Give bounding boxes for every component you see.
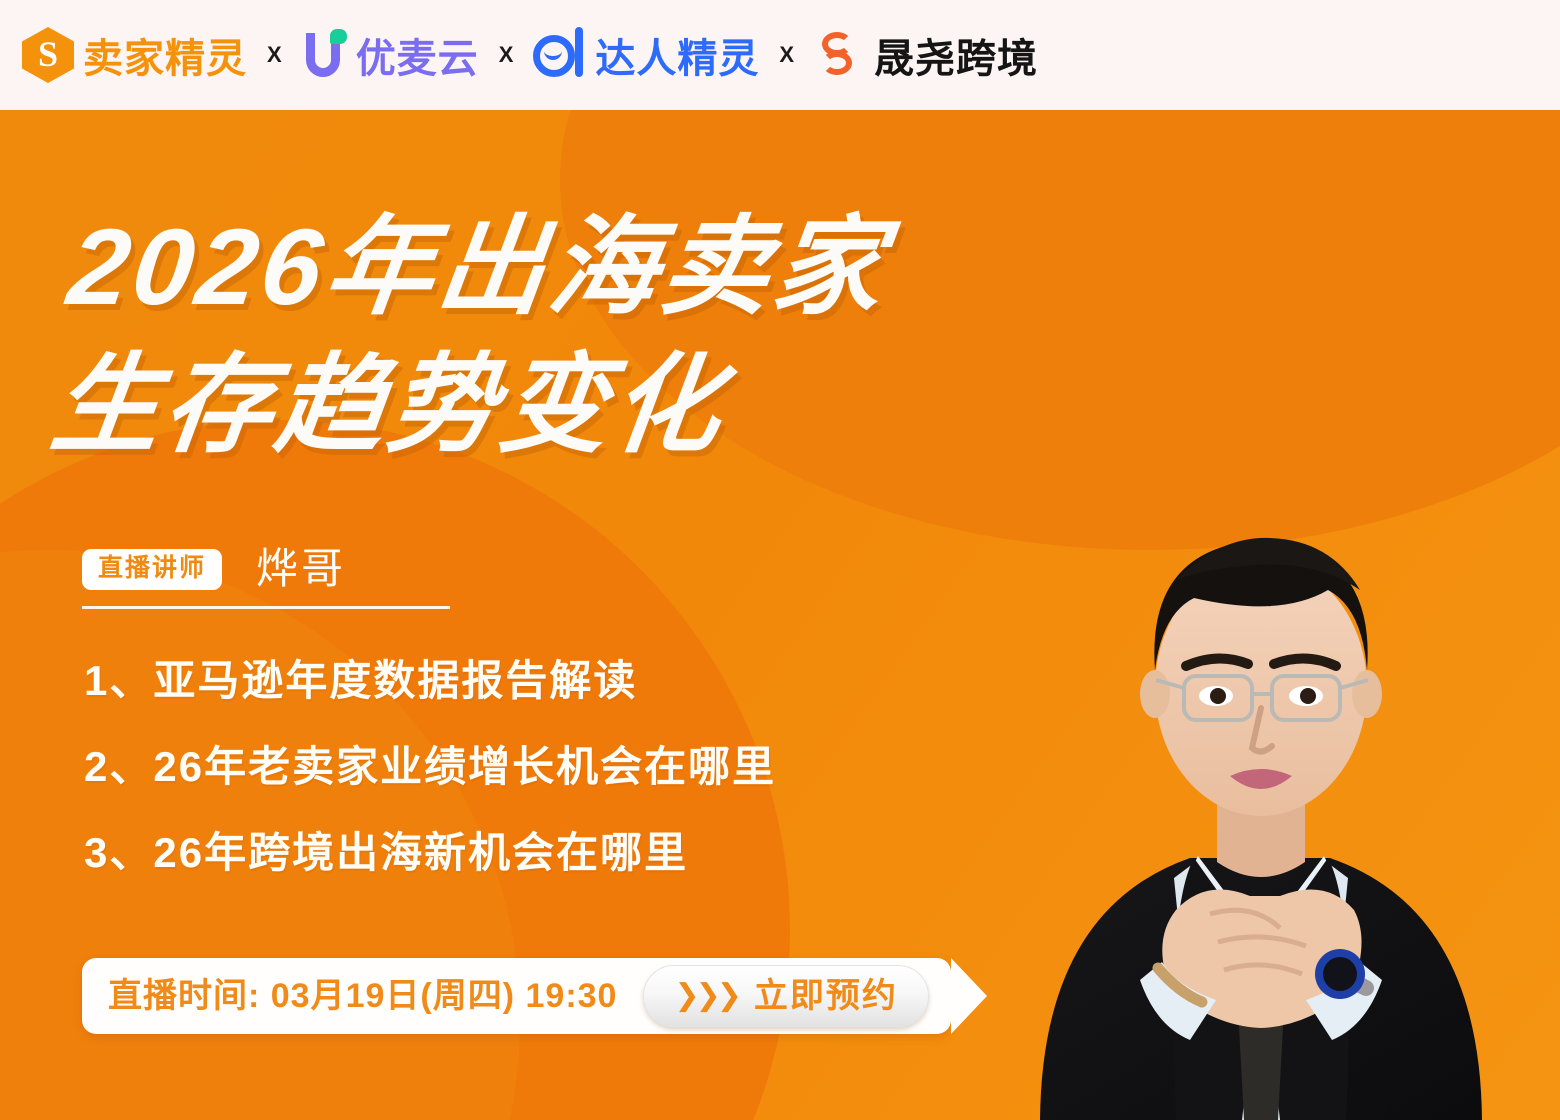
agenda-list: 1、亚马逊年度数据报告解读 2、26年老卖家业绩增长机会在哪里 3、26年跨境出… — [84, 658, 776, 917]
hero-background: 2026年出海卖家 生存趋势变化 直播讲师 烨哥 1、亚马逊年度数据报告解读 2… — [0, 110, 1560, 1120]
host-row: 直播讲师 烨哥 — [82, 548, 346, 590]
s-loop-icon — [814, 27, 864, 83]
list-item: 1、亚马逊年度数据报告解读 — [84, 658, 776, 704]
logo-shengyao[interactable]: 晟尧跨境 — [814, 26, 1038, 84]
live-promo-poster: S 卖家精灵 X 优麦云 X 达人精灵 X 晟尧跨境 — [0, 0, 1560, 1120]
page-title-line2: 生存趋势变化 — [44, 336, 877, 474]
u-drop-icon — [302, 27, 346, 83]
partner-logo-bar: S 卖家精灵 X 优麦云 X 达人精灵 X 晟尧跨境 — [0, 0, 1560, 110]
cta-bar: 直播时间: 03月19日(周四) 19:30 ❯❯❯ 立即预约 — [82, 958, 951, 1034]
logo-separator-1: X — [267, 44, 282, 66]
logo-shengyao-label: 晟尧跨境 — [874, 26, 1038, 84]
d-circle-icon — [533, 27, 585, 83]
host-name: 烨哥 — [256, 548, 346, 590]
page-title: 2026年出海卖家 生存趋势变化 — [44, 198, 894, 474]
host-badge: 直播讲师 — [82, 549, 222, 590]
list-item: 3、26年跨境出海新机会在哪里 — [84, 830, 776, 876]
chevron-right-icon: ❯❯❯ — [674, 981, 737, 1011]
hexagon-s-icon: S — [22, 27, 74, 83]
logo-sellersprite-label: 卖家精灵 — [83, 26, 247, 84]
live-time-label: 直播时间: 03月19日(周四) 19:30 — [108, 979, 617, 1013]
logo-separator-2: X — [499, 44, 514, 66]
logo-darenjingling[interactable]: 达人精灵 — [533, 26, 759, 84]
logo-darenjingling-label: 达人精灵 — [595, 26, 759, 84]
reserve-button-label: 立即预约 — [754, 979, 898, 1013]
host-divider — [82, 606, 450, 609]
logo-sellersprite[interactable]: S 卖家精灵 — [22, 26, 247, 84]
list-item: 2、26年老卖家业绩增长机会在哪里 — [84, 744, 776, 790]
page-title-line1: 2026年出海卖家 — [62, 206, 893, 327]
logo-separator-3: X — [779, 44, 794, 66]
hero-content: 2026年出海卖家 生存趋势变化 直播讲师 烨哥 1、亚马逊年度数据报告解读 2… — [0, 110, 1560, 1120]
logo-umaiyun-label: 优麦云 — [356, 26, 479, 84]
reserve-button[interactable]: ❯❯❯ 立即预约 — [643, 965, 928, 1027]
logo-umaiyun[interactable]: 优麦云 — [302, 26, 479, 84]
